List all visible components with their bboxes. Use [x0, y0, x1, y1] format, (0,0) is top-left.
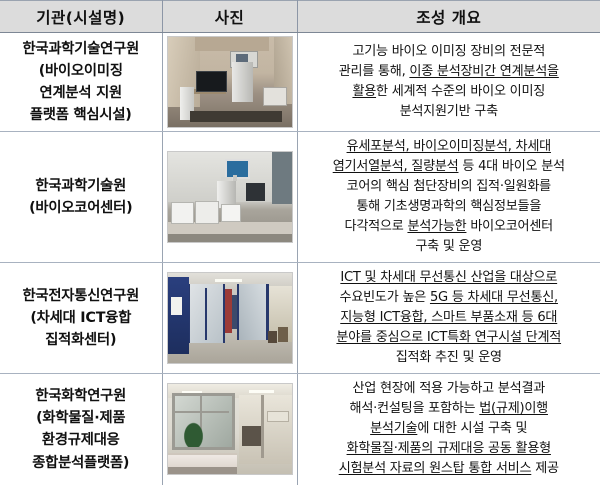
- organization-cell: 한국화학연구원 (화학물질·제품 환경규제대응 종합분석플랫폼): [0, 374, 162, 485]
- photo-cell: [162, 374, 297, 485]
- summary-line: 해석·컨설팅을 포함하는 법(규제)이행: [306, 399, 593, 419]
- summary-line: 지능형 ICT융합, 스마트 부품소재 등 6대: [306, 308, 593, 328]
- column-header-photo: 사진: [162, 1, 297, 33]
- facility-table: 기관(시설명) 사진 조성 개요 한국과학기술연구원 (바이오이미징 연계분석 …: [0, 0, 600, 485]
- summary-line: 관리를 통해, 이종 분석장비간 연계분석을: [306, 62, 593, 82]
- organization-sub-line: (바이오코어센터): [2, 197, 160, 219]
- organization-sub-line: 종합분석플랫폼): [2, 452, 160, 474]
- summary-line: 고기능 바이오 이미징 장비의 전문적: [306, 42, 593, 62]
- summary-underlined: 분석기술: [370, 421, 417, 436]
- summary-underlined: 염기서열분석, 질량분석: [333, 159, 459, 174]
- table-row: 한국화학연구원 (화학물질·제품 환경규제대응 종합분석플랫폼) 산업 현: [0, 374, 600, 485]
- summary-underlined: 활용: [352, 84, 376, 99]
- summary-line: 산업 현장에 적용 가능하고 분석결과: [306, 379, 593, 399]
- lab-bench-instruments-photo: [167, 151, 293, 243]
- summary-underlined: 이종 분석장비간 연계분석을: [409, 64, 558, 79]
- organization-name: 한국과학기술연구원: [2, 38, 160, 60]
- photo-cell: [162, 132, 297, 263]
- analysis-platform-lab-photo: [167, 383, 293, 475]
- summary-line: 시험분석 자료의 원스탑 통합 서비스 제공: [306, 459, 593, 479]
- summary-underlined: 시험분석 자료의 원스탑 통합 서비스: [339, 461, 532, 476]
- organization-sub-line: (차세대 ICT융합: [2, 307, 160, 329]
- summary-line: 다각적으로 분석가능한 바이오코어센터: [306, 217, 593, 237]
- table-row: 한국전자통신연구원 (차세대 ICT융합 집적화센터) ICT 및: [0, 263, 600, 374]
- organization-sub-line: (화학물질·제품: [2, 407, 160, 429]
- summary-line: 코어의 핵심 첨단장비의 집적·일원화를: [306, 177, 593, 197]
- summary-cell: 고기능 바이오 이미징 장비의 전문적 관리를 통해, 이종 분석장비간 연계분…: [297, 33, 600, 132]
- table-body: 한국과학기술연구원 (바이오이미징 연계분석 지원 플랫폼 핵심시설) 고기능 …: [0, 33, 600, 485]
- summary-line: 유세포분석, 바이오이미징분석, 차세대: [306, 137, 593, 157]
- summary-line: 분석지원기반 구축: [306, 102, 593, 122]
- summary-line: 화학물질·제품의 규제대응 공동 활용형: [306, 439, 593, 459]
- table-header: 기관(시설명) 사진 조성 개요: [0, 1, 600, 33]
- column-header-organization: 기관(시설명): [0, 1, 162, 33]
- summary-cell: 산업 현장에 적용 가능하고 분석결과 해석·컨설팅을 포함하는 법(규제)이행…: [297, 374, 600, 485]
- organization-sub-line: 연계분석 지원: [2, 82, 160, 104]
- organization-sub-line: 환경규제대응: [2, 429, 160, 451]
- column-header-summary: 조성 개요: [297, 1, 600, 33]
- summary-line: ICT 및 차세대 무선통신 산업을 대상으로: [306, 268, 593, 288]
- organization-name: 한국화학연구원: [2, 385, 160, 407]
- summary-cell: ICT 및 차세대 무선통신 산업을 대상으로 수요빈도가 높은 5G 등 차세…: [297, 263, 600, 374]
- summary-line: 수요빈도가 높은 5G 등 차세대 무선통신,: [306, 288, 593, 308]
- organization-cell: 한국과학기술연구원 (바이오이미징 연계분석 지원 플랫폼 핵심시설): [0, 33, 162, 132]
- header-row: 기관(시설명) 사진 조성 개요: [0, 1, 600, 33]
- summary-line: 통해 기초생명과학의 핵심정보들을: [306, 197, 593, 217]
- organization-name: 한국전자통신연구원: [2, 285, 160, 307]
- organization-sub-line: 집적화센터): [2, 329, 160, 351]
- photo-cell: [162, 263, 297, 374]
- organization-sub-line: 플랫폼 핵심시설): [2, 104, 160, 126]
- summary-underlined: 분석가능한: [407, 219, 466, 234]
- summary-line: 분야를 중심으로 ICT특화 연구시설 단계적: [306, 328, 593, 348]
- organization-name: 한국과학기술원: [2, 175, 160, 197]
- table-row: 한국과학기술연구원 (바이오이미징 연계분석 지원 플랫폼 핵심시설) 고기능 …: [0, 33, 600, 132]
- photo-cell: [162, 33, 297, 132]
- summary-line: 집적화 추진 및 운영: [306, 348, 593, 368]
- summary-underlined: 5G 등 차세대 무선통신,: [430, 290, 558, 305]
- organization-cell: 한국과학기술원 (바이오코어센터): [0, 132, 162, 263]
- summary-underlined: 법(규제)이행: [479, 401, 548, 416]
- summary-cell: 유세포분석, 바이오이미징분석, 차세대 염기서열분석, 질량분석 등 4대 바…: [297, 132, 600, 263]
- summary-line: 염기서열분석, 질량분석 등 4대 바이오 분석: [306, 157, 593, 177]
- corridor-glass-partition-photo: [167, 272, 293, 364]
- table-row: 한국과학기술원 (바이오코어센터) 유세포분석, 바이오이미징분석, 차세대 염…: [0, 132, 600, 263]
- facility-table-container: 기관(시설명) 사진 조성 개요 한국과학기술연구원 (바이오이미징 연계분석 …: [0, 0, 600, 472]
- organization-sub-line: (바이오이미징: [2, 60, 160, 82]
- lab-microscope-room-photo: [167, 36, 293, 128]
- summary-line: 구축 및 운영: [306, 237, 593, 257]
- summary-line: 분석기술에 대한 시설 구축 및: [306, 419, 593, 439]
- summary-line: 활용한 세계적 수준의 바이오 이미징: [306, 82, 593, 102]
- organization-cell: 한국전자통신연구원 (차세대 ICT융합 집적화센터): [0, 263, 162, 374]
